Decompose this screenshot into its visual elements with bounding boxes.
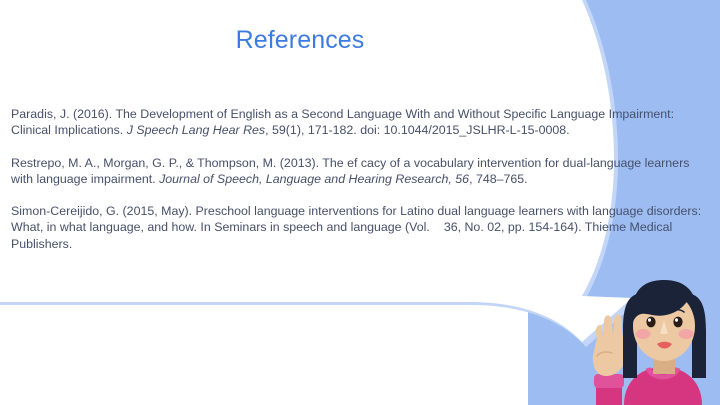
character-arm bbox=[594, 374, 624, 405]
references-list: Paradis, J. (2016). The Development of E… bbox=[11, 106, 711, 252]
reference-journal-title: J Speech Lang Hear Res bbox=[127, 123, 265, 137]
reference-item-restrepo-2013: Restrepo, M. A., Morgan, G. P., & Thomps… bbox=[11, 155, 711, 188]
character-eyebrows bbox=[646, 310, 684, 312]
character-hand bbox=[593, 314, 631, 376]
character-eyes bbox=[646, 317, 682, 328]
reference-text: , 59(1), 171-182. doi: 10.1044/2015_JSLH… bbox=[265, 123, 569, 137]
reference-journal-title: Journal of Speech, Language and Hearing … bbox=[159, 172, 469, 186]
page-title: References bbox=[0, 25, 600, 55]
character-body bbox=[624, 367, 702, 405]
character-hair-front bbox=[632, 280, 698, 322]
character-nose bbox=[660, 320, 668, 334]
character-waving-girl bbox=[593, 280, 706, 405]
reference-text: , 748–765. bbox=[469, 172, 528, 186]
reference-item-paradis-2016: Paradis, J. (2016). The Development of E… bbox=[11, 106, 711, 139]
character-face bbox=[633, 291, 695, 361]
character-mouth bbox=[657, 342, 672, 349]
reference-item-simon-cereijido-2015: Simon-Cereijido, G. (2015, May). Prescho… bbox=[11, 203, 711, 252]
character-neck bbox=[653, 352, 675, 374]
character-hair-back bbox=[623, 293, 706, 378]
character-cheeks bbox=[636, 329, 694, 339]
slide-references: References Paradis, J. (2016). The Devel… bbox=[0, 0, 720, 405]
